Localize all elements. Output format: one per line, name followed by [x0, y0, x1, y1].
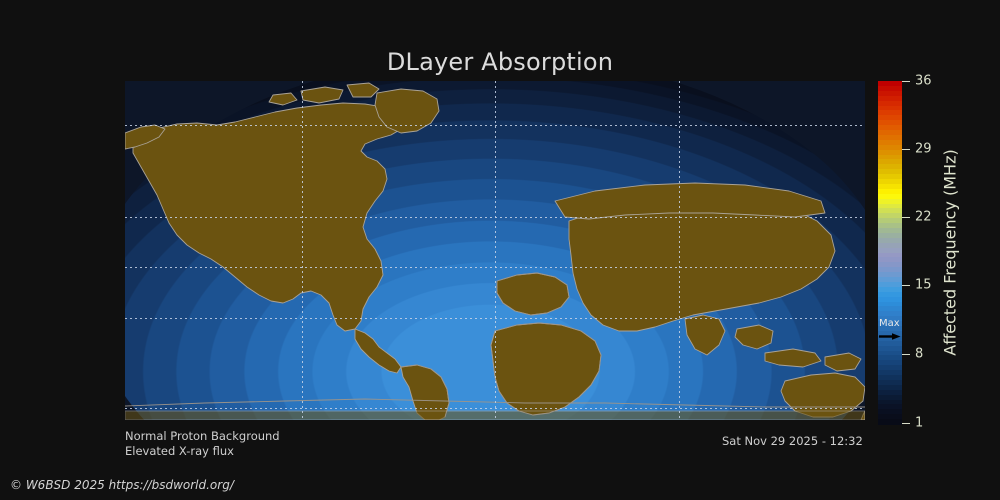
max-marker-label: Max	[879, 319, 900, 329]
map-canvas	[125, 81, 865, 420]
footer-credit: © W6BSD 2025 https://bsdworld.org/	[10, 478, 234, 492]
colorbar-tick-label: 1	[915, 416, 923, 431]
screenshot-root: DLayer Absorption	[0, 0, 1000, 500]
colorbar[interactable]: Max 3629221581	[878, 81, 902, 424]
colorbar-tick-mark	[902, 81, 910, 82]
world-map[interactable]	[125, 81, 865, 420]
right-arrow-icon	[879, 333, 901, 340]
colorbar-tick-mark	[902, 149, 910, 150]
colorbar-tick-mark	[902, 285, 910, 286]
colorbar-gradient	[878, 81, 902, 424]
colorbar-tick-label: 8	[915, 346, 923, 361]
caption-xray-flux: Elevated X-ray flux	[125, 444, 280, 459]
colorbar-segment	[878, 419, 902, 425]
colorbar-axis-label: Affected Frequency (MHz)	[938, 81, 962, 424]
page-title: DLayer Absorption	[0, 48, 1000, 76]
timestamp: Sat Nov 29 2025 - 12:32	[722, 434, 863, 448]
caption-proton-background: Normal Proton Background	[125, 429, 280, 444]
colorbar-axis-label-text: Affected Frequency (MHz)	[941, 149, 960, 355]
colorbar-tick-label: 36	[915, 74, 932, 89]
colorbar-max-marker: Max	[878, 320, 902, 344]
colorbar-tick-label: 15	[915, 278, 932, 293]
status-captions: Normal Proton Background Elevated X-ray …	[125, 429, 280, 459]
colorbar-tick-label: 29	[915, 141, 932, 156]
colorbar-tick-label: 22	[915, 209, 932, 224]
colorbar-tick-mark	[902, 217, 910, 218]
colorbar-tick-mark	[902, 354, 910, 355]
colorbar-tick-mark	[902, 423, 910, 424]
